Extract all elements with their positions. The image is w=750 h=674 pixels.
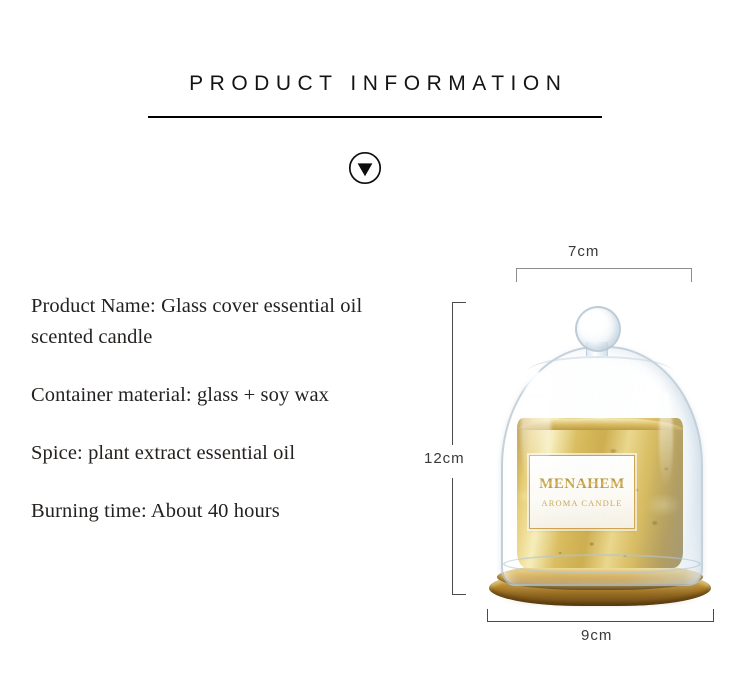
- knob-highlight: [585, 314, 596, 327]
- spec-product-name: Product Name: Glass cover essential oil …: [31, 291, 421, 353]
- glass-knob: [575, 306, 621, 352]
- dimension-label-height: 12cm: [424, 450, 465, 467]
- spec-spice: Spice: plant extract essential oil: [31, 438, 421, 469]
- dimension-bracket-height-lower: [452, 478, 466, 595]
- spec-burning-time: Burning time: About 40 hours: [31, 496, 421, 527]
- spec-container-material: Container material: glass + soy wax: [31, 380, 421, 411]
- dimension-bracket-height-upper: [452, 302, 466, 445]
- product-information-page: PRODUCT INFORMATION Product Name: Glass …: [0, 0, 750, 674]
- product-image: MENAHEM AROMA CANDLE: [487, 300, 713, 606]
- title-divider: [148, 116, 602, 118]
- dimension-label-bottom-width: 9cm: [581, 627, 612, 644]
- label-brand-name: MENAHEM: [539, 476, 625, 493]
- specification-list: Product Name: Glass cover essential oil …: [31, 291, 421, 527]
- dimension-label-top-width: 7cm: [568, 243, 599, 260]
- product-label: MENAHEM AROMA CANDLE: [529, 455, 635, 529]
- page-title: PRODUCT INFORMATION: [0, 72, 750, 96]
- chevron-down-circle-icon[interactable]: [348, 151, 382, 185]
- dome-shoulder-highlight: [527, 356, 673, 388]
- dimension-bracket-bottom: [487, 609, 714, 622]
- dimension-bracket-top: [516, 268, 692, 282]
- label-subtitle: AROMA CANDLE: [542, 498, 623, 508]
